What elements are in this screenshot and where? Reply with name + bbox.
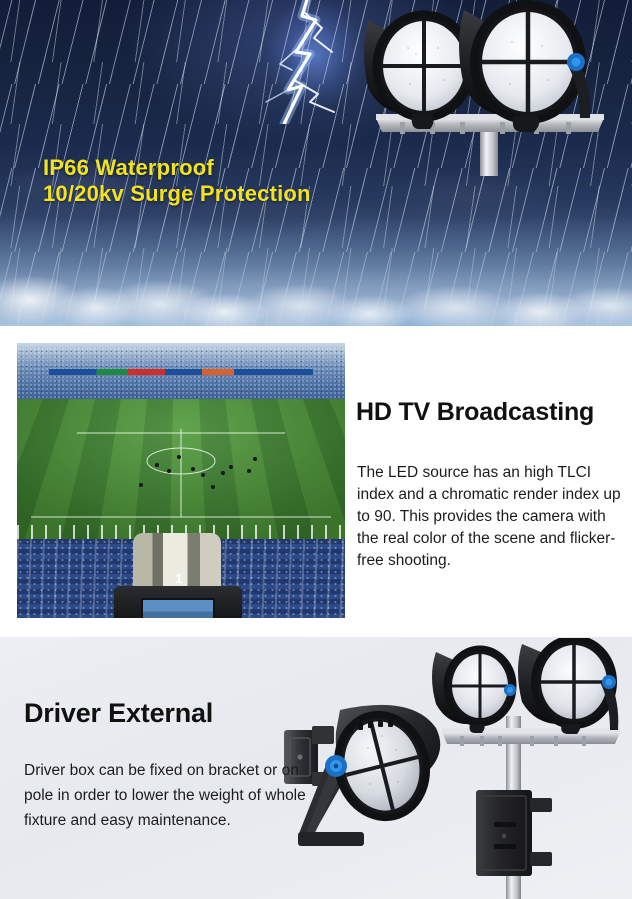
product-page: IP66 Waterproof 10/20kv Surge Protection — [0, 0, 632, 899]
stadium-floodlight-fixture-icon — [352, 0, 632, 176]
hero-banner: IP66 Waterproof 10/20kv Surge Protection — [0, 0, 632, 326]
driver-section-title: Driver External — [24, 698, 213, 729]
hero-headline-line2: 10/20kv Surge Protection — [43, 181, 311, 207]
cloud-band — [0, 216, 632, 326]
broadcast-section-title: HD TV Broadcasting — [356, 398, 632, 427]
advertising-board — [49, 369, 313, 375]
hero-headline: IP66 Waterproof 10/20kv Surge Protection — [43, 155, 311, 207]
viewfinder-image — [143, 600, 213, 618]
hero-headline-line1: IP66 Waterproof — [43, 155, 311, 181]
stadium-broadcast-camera-photo: 1 — [17, 343, 345, 618]
driver-section-body: Driver box can be fixed on bracket or on… — [24, 758, 324, 833]
camera-number-label: 1 — [169, 571, 189, 586]
broadcast-section-body: The LED source has an high TLCI index an… — [357, 462, 629, 572]
